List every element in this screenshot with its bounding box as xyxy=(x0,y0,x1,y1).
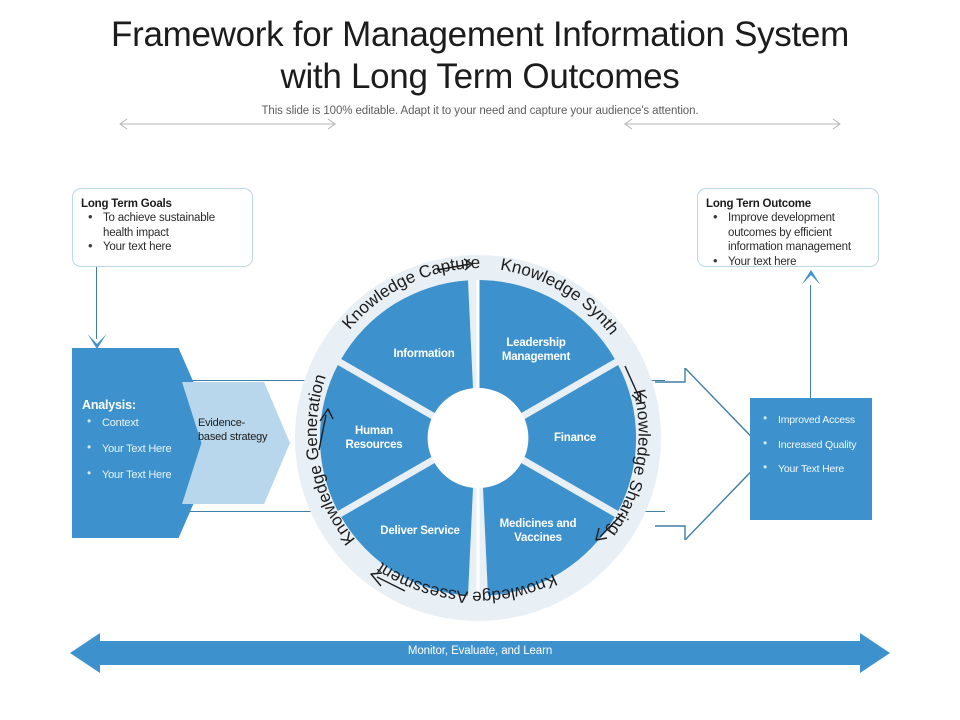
outcomes-box[interactable]: Improved Access Increased Quality Your T… xyxy=(750,398,872,520)
evidence-label: Evidence-based strategy xyxy=(198,417,270,444)
callout-goals-title: Long Term Goals xyxy=(81,198,244,210)
callout-outcome-title: Long Tern Outcome xyxy=(706,198,870,210)
wheel-hub xyxy=(428,388,528,488)
list-item: Increased Quality xyxy=(756,439,866,452)
segment-label-medicines-and-vaccines: Medicines and Vaccines xyxy=(492,518,584,545)
decorative-arrow-left xyxy=(115,117,340,131)
title-line-1: Framework for Management Information Sys… xyxy=(111,15,849,54)
callout-long-term-outcome[interactable]: Long Tern Outcome Improve development ou… xyxy=(697,188,879,267)
segment-label-leadership-management: Leadership Management xyxy=(490,337,582,364)
segment-label-human-resources: Human Resources xyxy=(330,425,418,452)
list-item: Your Text Here xyxy=(756,463,866,476)
goals-down-arrow-icon xyxy=(86,333,108,349)
outcome-up-arrow-icon xyxy=(800,270,822,286)
outcome-connector-line xyxy=(810,285,811,400)
page-title: Framework for Management Information Sys… xyxy=(0,14,960,98)
list-item: Context xyxy=(82,417,200,430)
list-item: Improve development outcomes by efficien… xyxy=(706,211,870,255)
list-item: Your Text Here xyxy=(82,469,200,482)
banner-label: Monitor, Evaluate, and Learn xyxy=(70,645,890,657)
decorative-arrow-right xyxy=(620,117,845,131)
callout-long-term-goals[interactable]: Long Term Goals To achieve sustainable h… xyxy=(72,188,253,267)
callout-outcome-list: Improve development outcomes by efficien… xyxy=(706,211,870,269)
page-subtitle: This slide is 100% editable. Adapt it to… xyxy=(0,105,960,117)
list-item: Your text here xyxy=(81,240,244,255)
analysis-title: Analysis: xyxy=(82,398,200,412)
slide-canvas: Framework for Management Information Sys… xyxy=(0,0,960,720)
analysis-list: Context Your Text Here Your Text Here xyxy=(82,417,200,482)
list-item: To achieve sustainable health impact xyxy=(81,211,244,240)
title-line-2: with Long Term Outcomes xyxy=(280,57,679,96)
outcomes-list: Improved Access Increased Quality Your T… xyxy=(750,398,872,476)
list-item: Your Text Here xyxy=(82,443,200,456)
segment-label-finance: Finance xyxy=(535,432,615,446)
segment-label-deliver-service: Deliver Service xyxy=(378,525,462,539)
analysis-content: Analysis: Context Your Text Here Your Te… xyxy=(82,398,200,495)
segment-label-information: Information xyxy=(378,348,470,362)
list-item: Improved Access xyxy=(756,414,866,427)
list-item: Your text here xyxy=(706,255,870,270)
goals-connector-line xyxy=(96,267,97,339)
callout-goals-list: To achieve sustainable health impact You… xyxy=(81,211,244,255)
